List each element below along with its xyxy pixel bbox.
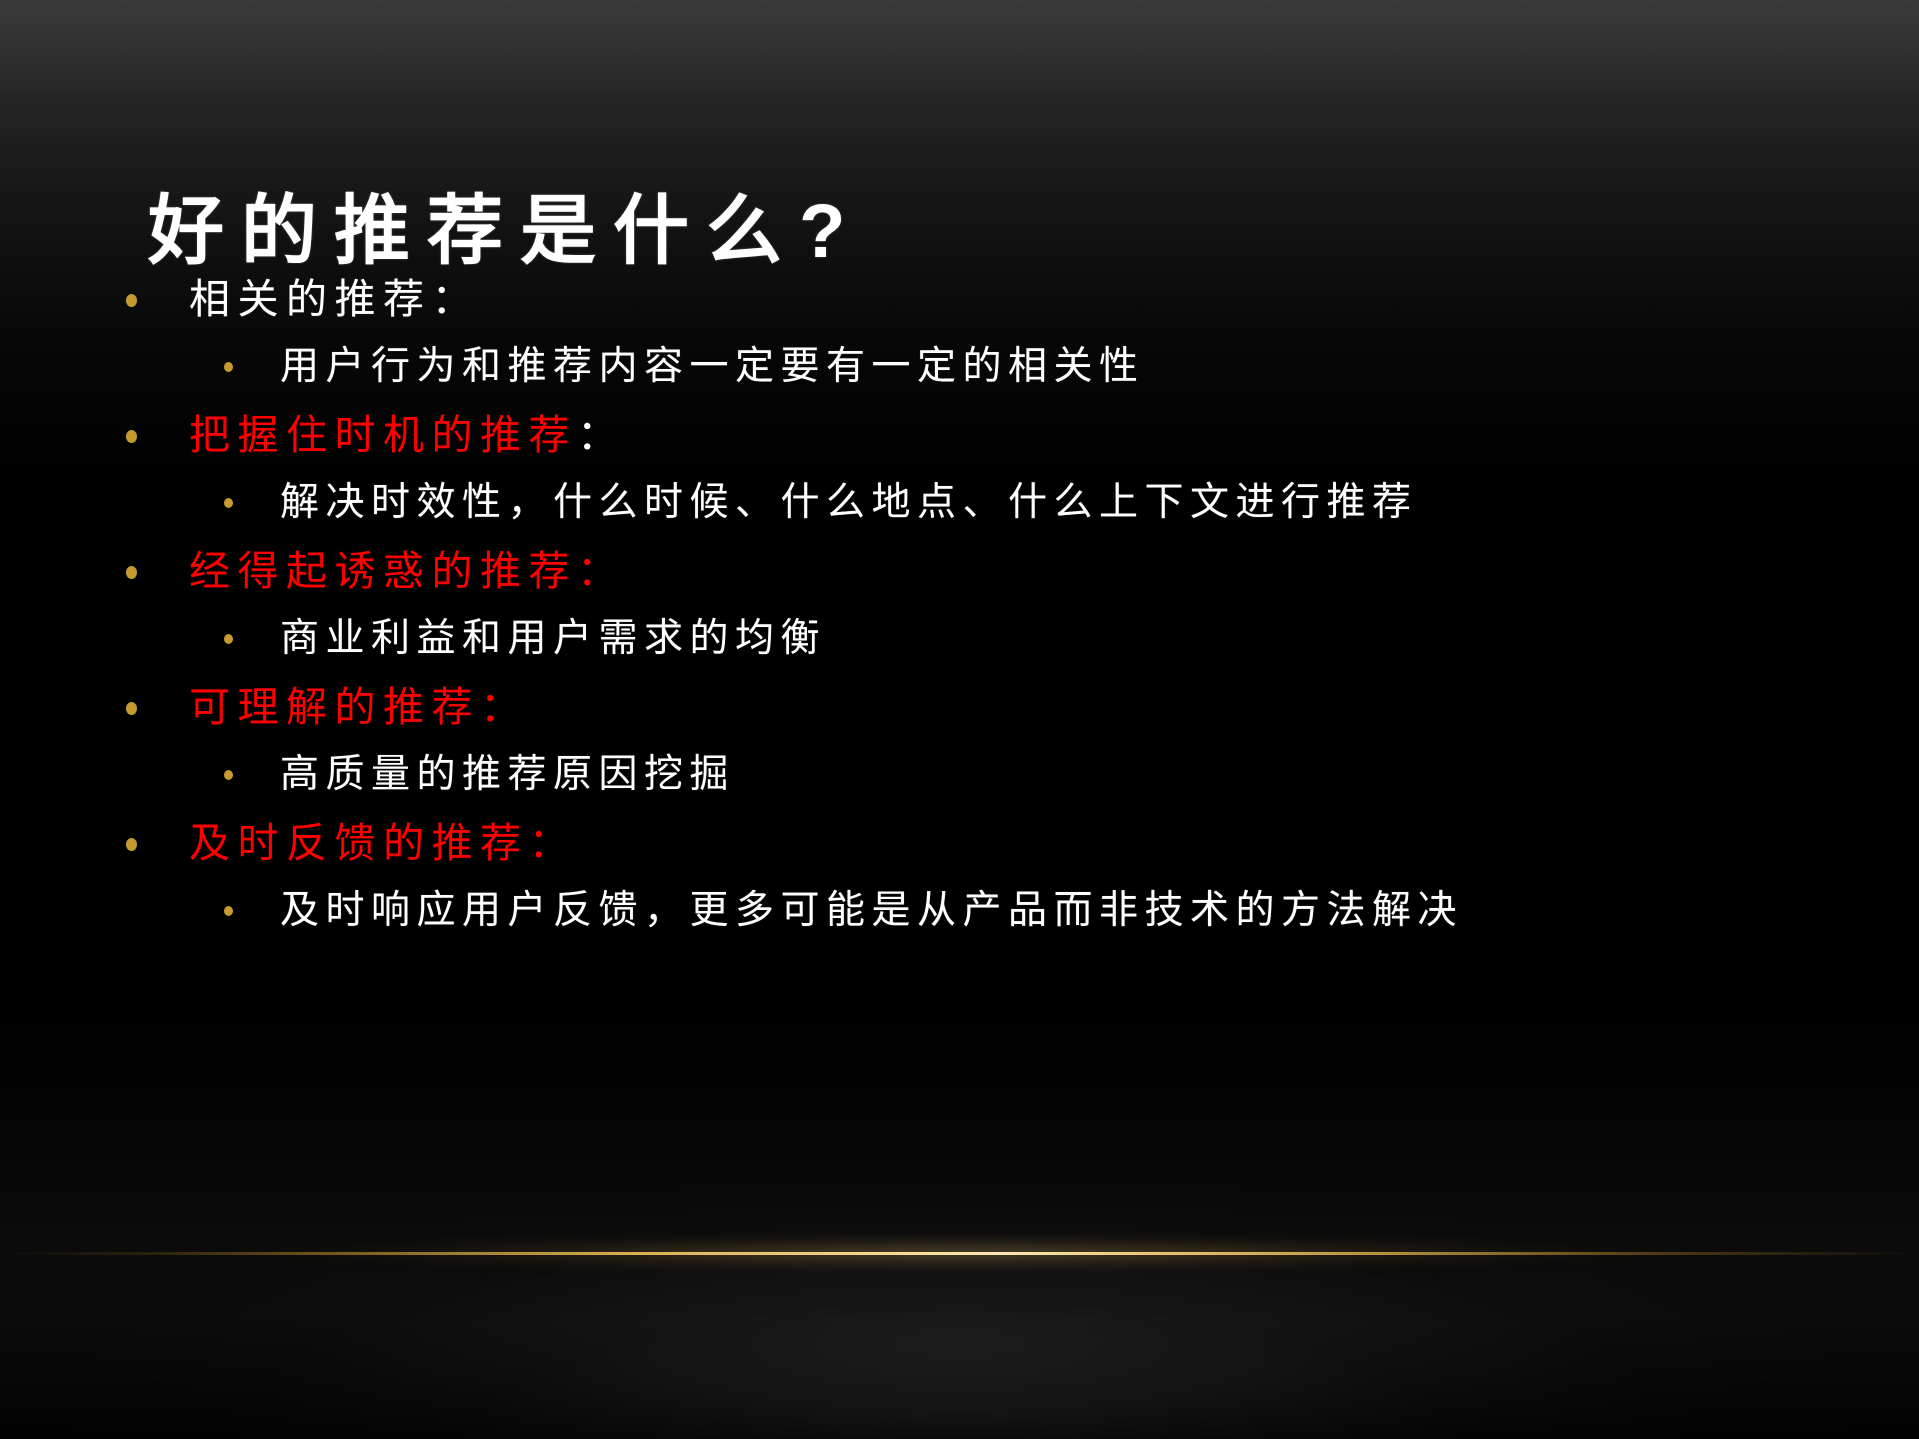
bullet-item: 相关的推荐： xyxy=(0,268,1919,337)
bullet-dot-icon xyxy=(126,430,137,443)
sub-bullet-item: 用户行为和推荐内容一定要有一定的相关性 xyxy=(0,337,1919,404)
bullet-dot-icon xyxy=(126,838,137,851)
sub-bullet-item: 解决时效性，什么时候、什么地点、什么上下文进行推荐 xyxy=(0,473,1919,540)
bullet-text: 把握住时机的推荐： xyxy=(189,404,626,466)
gold-divider-rule xyxy=(0,1252,1919,1255)
bullet-text-plain: 及时响应用户反馈，更多可能是从产品而非技术的方法解决 xyxy=(280,889,1463,932)
bullet-item: 及时反馈的推荐： xyxy=(0,812,1919,881)
bullet-dot-icon xyxy=(224,498,233,508)
bullet-dot-icon xyxy=(224,634,233,644)
bullet-text: 商业利益和用户需求的均衡 xyxy=(280,609,826,669)
slide-bottom-shade xyxy=(0,1319,1919,1439)
sub-bullet-item: 高质量的推荐原因挖掘 xyxy=(0,745,1919,812)
presentation-slide: 好的推荐是什么? 相关的推荐：用户行为和推荐内容一定要有一定的相关性把握住时机的… xyxy=(0,0,1919,1439)
bullet-dot-icon xyxy=(126,294,137,307)
bullet-text-highlight: 可理解的推荐： xyxy=(189,684,529,730)
bullet-text: 经得起诱惑的推荐： xyxy=(189,540,626,602)
bullet-item: 把握住时机的推荐： xyxy=(0,404,1919,473)
bullet-text: 解决时效性，什么时候、什么地点、什么上下文进行推荐 xyxy=(280,473,1418,533)
bullet-text: 及时响应用户反馈，更多可能是从产品而非技术的方法解决 xyxy=(280,881,1463,941)
sub-bullet-item: 商业利益和用户需求的均衡 xyxy=(0,609,1919,676)
bullet-text: 相关的推荐： xyxy=(189,268,480,330)
bullet-dot-icon xyxy=(224,770,233,780)
bullet-text: 可理解的推荐： xyxy=(189,676,529,738)
bullet-text-plain: 用户行为和推荐内容一定要有一定的相关性 xyxy=(280,345,1145,388)
slide-title: 好的推荐是什么? xyxy=(148,194,1788,270)
sub-bullet-item: 及时响应用户反馈，更多可能是从产品而非技术的方法解决 xyxy=(0,881,1919,948)
bullet-text-highlight: 及时反馈的推荐： xyxy=(189,820,577,866)
bullet-dot-icon xyxy=(126,702,137,715)
bullet-text: 及时反馈的推荐： xyxy=(189,812,577,874)
bullet-text-plain: ： xyxy=(577,412,626,458)
bullet-dot-icon xyxy=(224,906,233,916)
bullet-item: 可理解的推荐： xyxy=(0,676,1919,745)
bullet-text: 用户行为和推荐内容一定要有一定的相关性 xyxy=(280,337,1145,397)
bullet-dot-icon xyxy=(126,566,137,579)
bullet-dot-icon xyxy=(224,362,233,372)
slide-bullet-list: 相关的推荐：用户行为和推荐内容一定要有一定的相关性把握住时机的推荐：解决时效性，… xyxy=(0,268,1919,948)
bullet-text: 高质量的推荐原因挖掘 xyxy=(280,745,735,805)
bullet-text-plain: 高质量的推荐原因挖掘 xyxy=(280,753,735,796)
bullet-text-highlight: 经得起诱惑的推荐： xyxy=(189,548,626,594)
bullet-text-highlight: 把握住时机的推荐 xyxy=(189,412,577,458)
bullet-text-plain: 商业利益和用户需求的均衡 xyxy=(280,617,826,660)
bullet-text-plain: 相关的推荐： xyxy=(189,276,480,322)
bullet-item: 经得起诱惑的推荐： xyxy=(0,540,1919,609)
bullet-text-plain: 解决时效性，什么时候、什么地点、什么上下文进行推荐 xyxy=(280,481,1418,524)
